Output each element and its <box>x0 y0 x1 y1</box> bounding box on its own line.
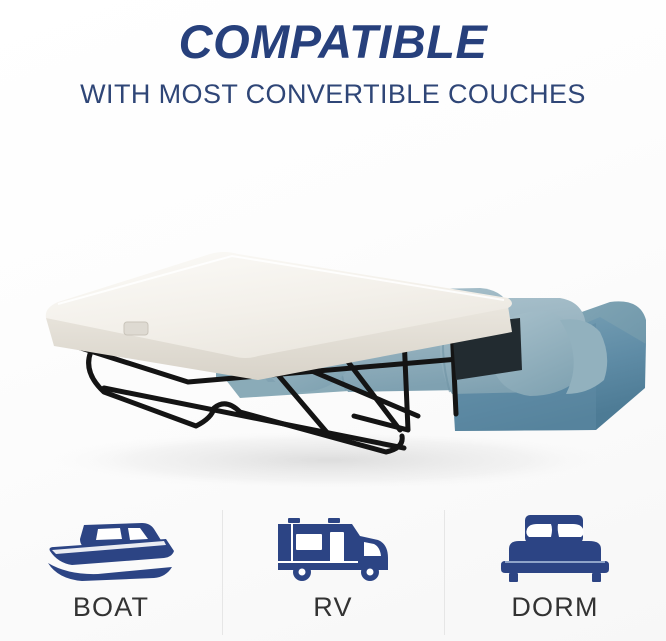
page-subtitle: WITH MOST CONVERTIBLE COUCHES <box>0 81 666 108</box>
feature-item-dorm: DORM <box>444 500 666 641</box>
product-image <box>0 130 666 490</box>
feature-label-rv: RV <box>313 594 352 621</box>
boat-icon <box>46 514 176 586</box>
bed-icon <box>495 514 615 586</box>
rv-icon <box>274 514 392 586</box>
compatibility-feature-row: BOAT <box>0 500 666 641</box>
feature-item-rv: RV <box>222 500 444 641</box>
mattress-handle <box>124 322 148 335</box>
feature-label-boat: BOAT <box>73 594 149 621</box>
feature-label-dorm: DORM <box>511 594 598 621</box>
page-title: COMPATIBLE <box>0 18 666 65</box>
promo-card: COMPATIBLE WITH MOST CONVERTIBLE COUCHES <box>0 0 666 641</box>
sleeper-sofa-illustration <box>0 130 666 490</box>
header: COMPATIBLE WITH MOST CONVERTIBLE COUCHES <box>0 0 666 108</box>
feature-item-boat: BOAT <box>0 500 222 641</box>
